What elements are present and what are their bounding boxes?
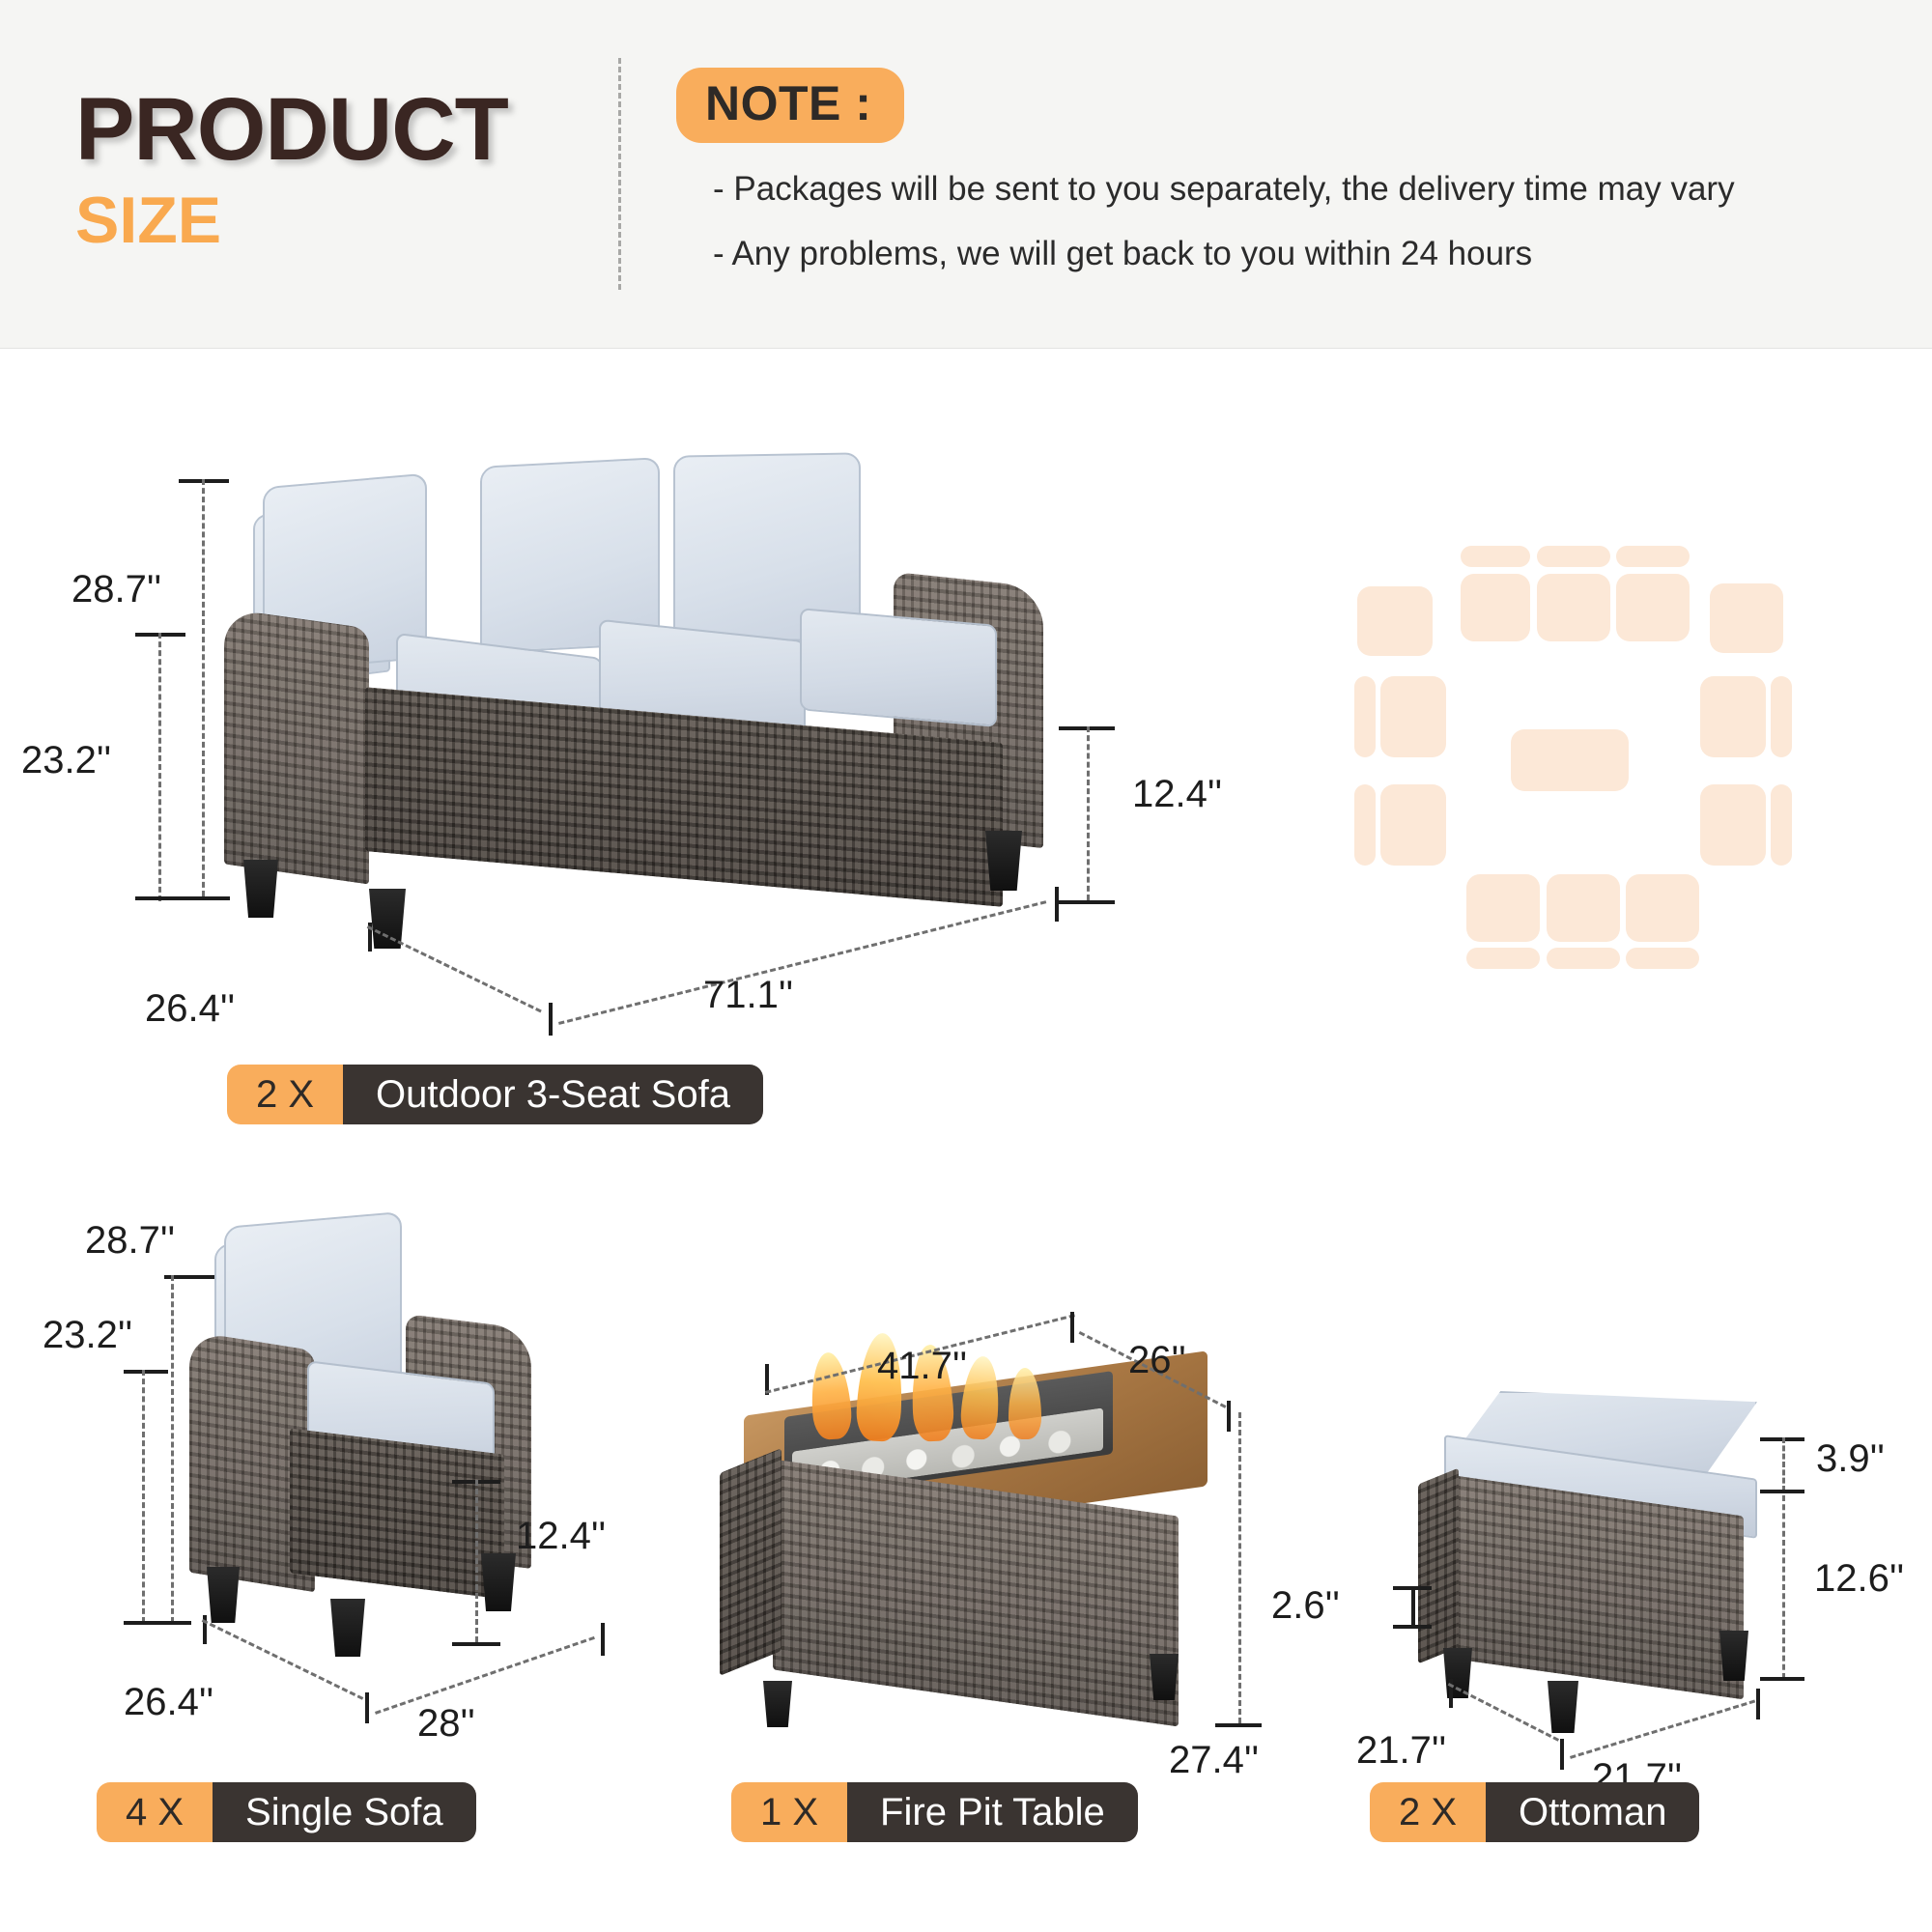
plan-sofa-seat: [1626, 874, 1699, 942]
dim-chair-overall-height: 28.7'': [85, 1219, 175, 1263]
dim-ottoman-cushion-thickness: 3.9'': [1816, 1437, 1885, 1481]
dim-table-length: 41.7'': [877, 1345, 967, 1388]
plan-chair-arm: [1354, 676, 1376, 757]
dim-sofa-arm-height: 23.2'': [21, 739, 111, 782]
plan-chair-seat: [1700, 784, 1766, 866]
table-side-panel: [720, 1448, 781, 1676]
chair-leg: [330, 1599, 365, 1657]
product-qty: 2 X: [1370, 1782, 1486, 1842]
plan-chair-arm: [1771, 676, 1792, 757]
product-label-ottoman[interactable]: 2 X Ottoman: [1370, 1782, 1699, 1842]
product-name: Single Sofa: [213, 1782, 476, 1842]
dim-line-width: [558, 900, 1046, 1025]
sofa-left-arm: [224, 608, 369, 884]
dim-line-width: [375, 1636, 595, 1715]
flame: [809, 1351, 853, 1441]
plan-sofa-seat: [1537, 574, 1610, 641]
chair-leg: [207, 1567, 240, 1623]
dim-tick: [601, 1623, 605, 1656]
dim-chair-width: 28'': [417, 1702, 475, 1746]
dim-chair-arm-height: 23.2'': [43, 1314, 132, 1357]
dim-tick: [135, 896, 230, 900]
dim-tick: [549, 1003, 553, 1036]
dim-line-overall-height: [202, 479, 205, 896]
ottoman-side-panel: [1418, 1468, 1459, 1664]
title-primary: PRODUCT: [75, 85, 508, 174]
product-label-sofa-3seat[interactable]: 2 X Outdoor 3-Seat Sofa: [227, 1065, 763, 1124]
dim-line-ottoman-width: [1570, 1700, 1755, 1759]
dim-tick: [1560, 1739, 1564, 1770]
plan-sofa-seat: [1547, 874, 1620, 942]
dim-line-seat-height: [1087, 726, 1090, 900]
sofa-leg: [243, 860, 278, 918]
dim-sofa-depth: 26.4'': [145, 987, 235, 1031]
note-line: - Packages will be sent to you separatel…: [713, 172, 1735, 206]
plan-sofa-seat: [1461, 574, 1530, 641]
plan-ottoman: [1710, 583, 1783, 653]
dim-tick: [1055, 887, 1059, 922]
dim-sofa-width: 71.1'': [703, 974, 793, 1017]
dim-line-depth: [367, 925, 542, 1012]
table-leg: [1150, 1654, 1179, 1700]
header-divider: [618, 58, 621, 290]
plan-fire-pit-table: [1511, 729, 1629, 791]
dim-line-overall-height: [171, 1275, 174, 1623]
chair-base-frame: [290, 1428, 504, 1599]
dim-line-arm-height: [142, 1370, 145, 1623]
plan-sofa-back: [1626, 948, 1699, 969]
product-label-single-sofa[interactable]: 4 X Single Sofa: [97, 1782, 476, 1842]
product-qty: 2 X: [227, 1065, 343, 1124]
chair-leg: [481, 1553, 516, 1611]
dim-sofa-seat-height: 12.4'': [1132, 773, 1222, 816]
note-text-block: - Packages will be sent to you separatel…: [713, 172, 1735, 301]
plan-ottoman: [1357, 586, 1433, 656]
plan-chair-arm: [1354, 784, 1376, 866]
table-body: [773, 1459, 1179, 1726]
dim-line-table-height: [1238, 1412, 1241, 1723]
dim-tick: [1070, 1312, 1074, 1343]
ottoman-leg: [1719, 1631, 1748, 1681]
sofa-seat-cushion: [800, 608, 997, 727]
plan-chair-arm: [1771, 784, 1792, 866]
dim-table-height: 27.4'': [1169, 1739, 1259, 1782]
plan-sofa-back: [1537, 546, 1610, 567]
plan-chair-seat: [1380, 784, 1446, 866]
plan-sofa-back: [1547, 948, 1620, 969]
product-label-fire-pit-table[interactable]: 1 X Fire Pit Table: [731, 1782, 1138, 1842]
ottoman-leg: [1548, 1681, 1578, 1733]
dim-tick: [1059, 900, 1115, 904]
plan-chair-seat: [1700, 676, 1766, 757]
dim-ottoman-leg-height: 2.6'': [1271, 1584, 1340, 1628]
dim-chair-seat-height: 12.4'': [516, 1515, 606, 1558]
plan-sofa-back: [1461, 546, 1530, 567]
dim-tick: [124, 1621, 191, 1625]
note-badge: NOTE :: [676, 68, 904, 143]
plan-sofa-seat: [1466, 874, 1540, 942]
product-qty: 1 X: [731, 1782, 847, 1842]
dim-tick: [1411, 1586, 1415, 1627]
product-qty: 4 X: [97, 1782, 213, 1842]
dim-sofa-overall-height: 28.7'': [71, 568, 161, 611]
dim-tick: [1760, 1490, 1804, 1493]
dim-line-seat-height: [475, 1480, 478, 1642]
dim-ottoman-depth: 21.7'': [1356, 1729, 1446, 1773]
dim-line-cushion-thickness: [1782, 1437, 1785, 1492]
dim-tick: [1227, 1401, 1231, 1432]
dim-line-frame-height: [1782, 1495, 1785, 1679]
title-secondary: SIZE: [75, 187, 508, 253]
plan-sofa-back: [1616, 546, 1690, 567]
dim-tick: [1760, 1677, 1804, 1681]
note-line: - Any problems, we will get back to you …: [713, 237, 1735, 270]
sofa-leg: [369, 889, 406, 949]
dim-tick: [1756, 1689, 1760, 1719]
dim-tick: [365, 1692, 369, 1723]
dim-tick: [124, 1370, 168, 1374]
product-name: Outdoor 3-Seat Sofa: [343, 1065, 763, 1124]
header-banner: PRODUCT SIZE NOTE : - Packages will be s…: [0, 0, 1932, 349]
plan-chair-seat: [1380, 676, 1446, 757]
dim-line-ottoman-depth: [1448, 1683, 1559, 1742]
table-leg: [763, 1681, 792, 1727]
product-name: Fire Pit Table: [847, 1782, 1138, 1842]
dim-tick: [452, 1642, 500, 1646]
set-layout-plan: [1285, 502, 1826, 985]
sofa-leg: [985, 831, 1022, 891]
dim-tick: [1393, 1625, 1432, 1629]
dim-tick: [1215, 1723, 1262, 1727]
dim-table-width: 26'': [1128, 1339, 1186, 1382]
dim-ottoman-frame-height: 12.6'': [1814, 1557, 1904, 1601]
product-name: Ottoman: [1486, 1782, 1699, 1842]
plan-sofa-back: [1466, 948, 1540, 969]
plan-sofa-seat: [1616, 574, 1690, 641]
dim-line-arm-height: [158, 633, 161, 901]
dim-chair-depth: 26.4'': [124, 1681, 213, 1724]
page-title: PRODUCT SIZE: [75, 85, 508, 253]
